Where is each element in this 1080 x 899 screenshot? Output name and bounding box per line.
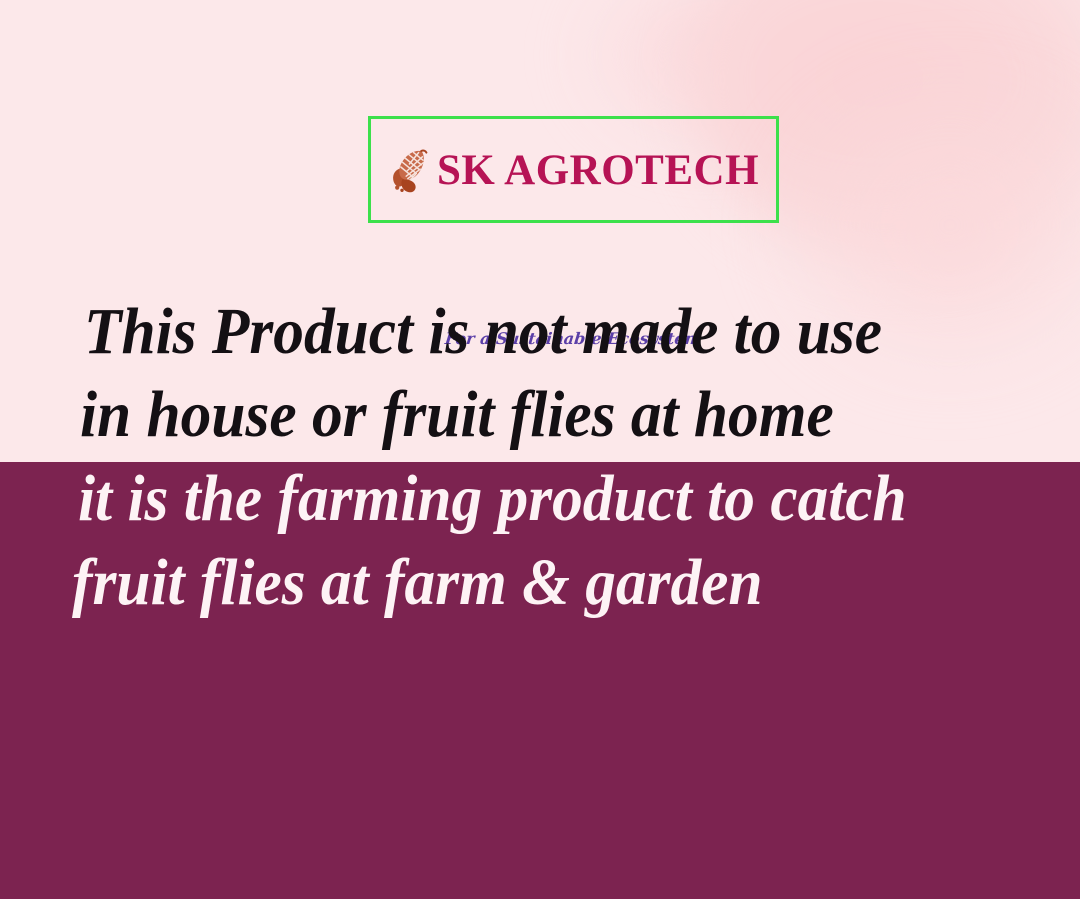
logo-lockup: SK AGROTECH For a Sustainable Ecosystem <box>368 116 779 223</box>
brand-name: SK AGROTECH <box>437 149 759 192</box>
logo-brand-row: SK AGROTECH <box>368 144 779 196</box>
message-line-3: it is the farming product to catch <box>78 466 907 532</box>
message-line-4: fruit flies at farm & garden <box>72 550 763 616</box>
message-line-1: This Product is not made to use <box>84 299 882 365</box>
poster-canvas: SK AGROTECH For a Sustainable Ecosystem … <box>0 0 1080 899</box>
message-line-2: in house or fruit flies at home <box>80 382 834 448</box>
corn-cob-icon <box>388 149 428 193</box>
